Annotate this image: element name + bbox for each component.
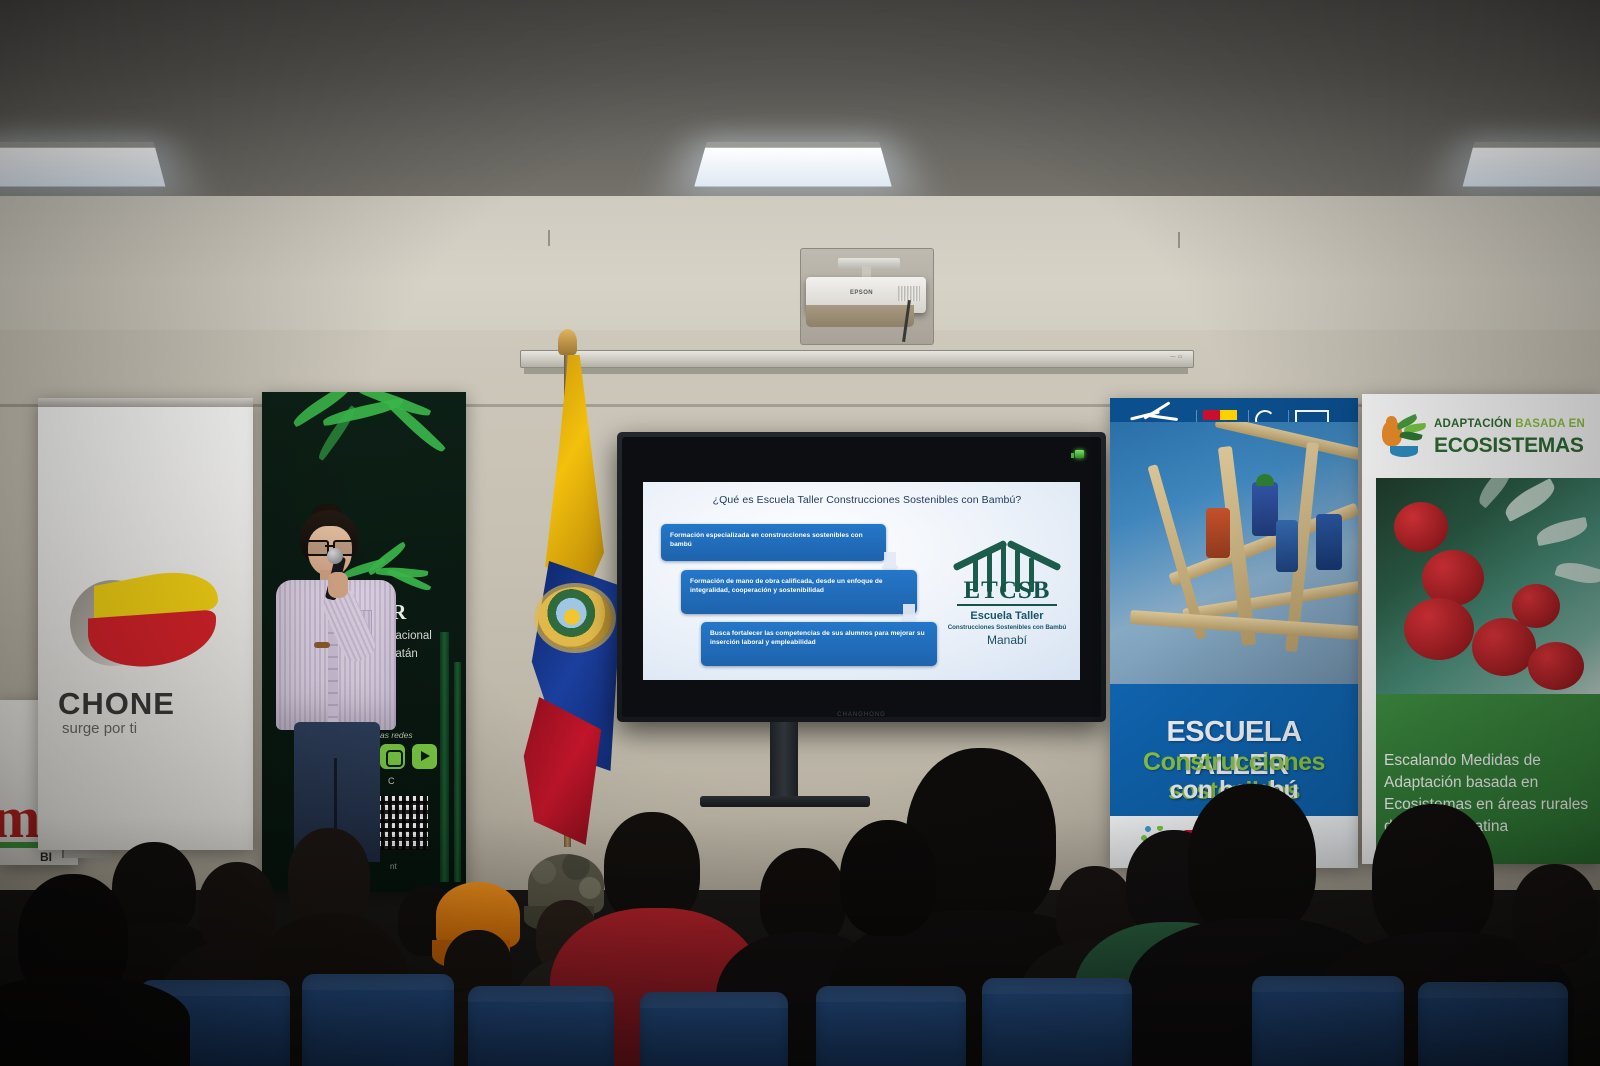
slide-box-1: Formación especializada en construccione…	[661, 524, 886, 561]
flag-finial	[558, 329, 577, 355]
slide-box-3: Busca fortalecer las competencias de sus…	[701, 622, 937, 666]
slide-box-3-text: Busca fortalecer las competencias de sus…	[710, 629, 931, 648]
logo-underline	[957, 604, 1057, 606]
banner-chone: CHONE surge por ti	[38, 398, 253, 850]
berry-cluster-1	[1394, 502, 1448, 552]
wall-nail-left	[548, 230, 550, 246]
light-panel	[694, 148, 891, 187]
worker-figure-1	[1252, 482, 1278, 536]
signal-indicator-icon	[1075, 450, 1084, 458]
audience-head	[1372, 804, 1494, 950]
tv-brand-label: CHANGHONG	[837, 712, 886, 718]
auditorium-seat[interactable]	[468, 986, 614, 1066]
berry-cluster-3	[1404, 598, 1474, 660]
banner-et-photo	[1110, 422, 1358, 684]
slide-box-2-text: Formación de mano de obra calificada, de…	[690, 577, 911, 596]
audience-head-front	[840, 820, 936, 936]
youtube-icon[interactable]	[412, 744, 437, 769]
slide-box-1-text: Formación especializada en construccione…	[670, 531, 880, 550]
worker-helmet-1	[1256, 474, 1274, 486]
leaf-icon-a	[1501, 478, 1560, 522]
projector-lens-housing	[806, 305, 914, 327]
microphone-head-icon	[327, 548, 343, 564]
auditorium-seat[interactable]	[816, 986, 966, 1066]
abe-logo-icon	[1380, 416, 1428, 460]
projector-vent-icon	[898, 286, 920, 301]
flag-sun-emblem	[564, 609, 580, 625]
audience-head	[288, 828, 370, 926]
berry-cluster-5	[1512, 584, 1560, 628]
etcsb-logo: ETCSB Escuela Taller Construcciones Sost…	[943, 524, 1071, 664]
speaker-wristband	[314, 642, 330, 648]
chone-tagline: surge por ti	[62, 720, 253, 737]
audience-head	[1512, 864, 1598, 964]
worker-figure-3	[1316, 514, 1342, 570]
abe-kicker-b: BASADA EN	[1515, 418, 1585, 430]
leaf-icon-c	[1554, 558, 1600, 589]
ceiling-light-3	[1463, 148, 1600, 187]
rail-label: — ▭	[1170, 354, 1183, 360]
projector-brand-label: EPSON	[850, 290, 873, 296]
tv-stand-neck	[770, 722, 798, 800]
audience-area	[0, 790, 1600, 1066]
leaf-icon-b	[1535, 517, 1590, 546]
auditorium-seat[interactable]	[1418, 982, 1568, 1066]
auditorium-scene: EPSON — ▭ CHANGHONG ¿Qué es Escuela Tall…	[0, 0, 1600, 1066]
chone-logo	[66, 558, 226, 673]
abe-title: ECOSISTEMAS	[1434, 434, 1584, 458]
ecuador-flag	[520, 325, 630, 845]
logo-roof-left-bamboo-icon	[952, 540, 1007, 572]
abe-kicker: ADAPTACIÓN BASADA EN	[1434, 418, 1585, 430]
slide-box-2: Formación de mano de obra calificada, de…	[681, 570, 917, 614]
slide-title: ¿Qué es Escuela Taller Construcciones So…	[665, 494, 1069, 506]
worker-figure-4	[1276, 520, 1298, 572]
ceiling-light-1	[0, 148, 165, 187]
auditorium-seat[interactable]	[982, 978, 1132, 1066]
light-panel	[0, 148, 165, 187]
banner-chone-top-bar	[38, 398, 253, 407]
presentation-slide: ¿Qué es Escuela Taller Construcciones So…	[643, 482, 1080, 680]
bamboo-pole-icon-3	[1215, 422, 1358, 461]
banner-abe-photo	[1376, 478, 1600, 710]
logo-line-2: Construcciones Sostenibles con Bambú	[935, 624, 1079, 631]
auditorium-seat[interactable]	[302, 974, 454, 1066]
logo-line-1: Escuela Taller	[943, 610, 1071, 622]
audience-shoulders-front	[0, 976, 190, 1066]
chone-wordmark: CHONE	[58, 686, 253, 722]
berry-cluster-4	[1472, 618, 1536, 676]
light-panel	[1463, 148, 1600, 187]
logo-acronym: ETCSB	[943, 578, 1071, 603]
wall-nail-right	[1178, 232, 1180, 248]
ceiling-light-2	[694, 148, 891, 187]
audience-head	[1188, 784, 1316, 936]
auditorium-seat[interactable]	[1252, 976, 1404, 1066]
worker-figure-2	[1206, 508, 1230, 558]
speaker-hand	[328, 572, 348, 598]
abe-kicker-a: ADAPTACIÓN	[1434, 418, 1512, 430]
logo-line-3: Manabí	[943, 633, 1071, 647]
berry-cluster-6	[1528, 642, 1584, 690]
flag-yellow-band	[540, 355, 604, 585]
auditorium-seat[interactable]	[640, 992, 788, 1066]
